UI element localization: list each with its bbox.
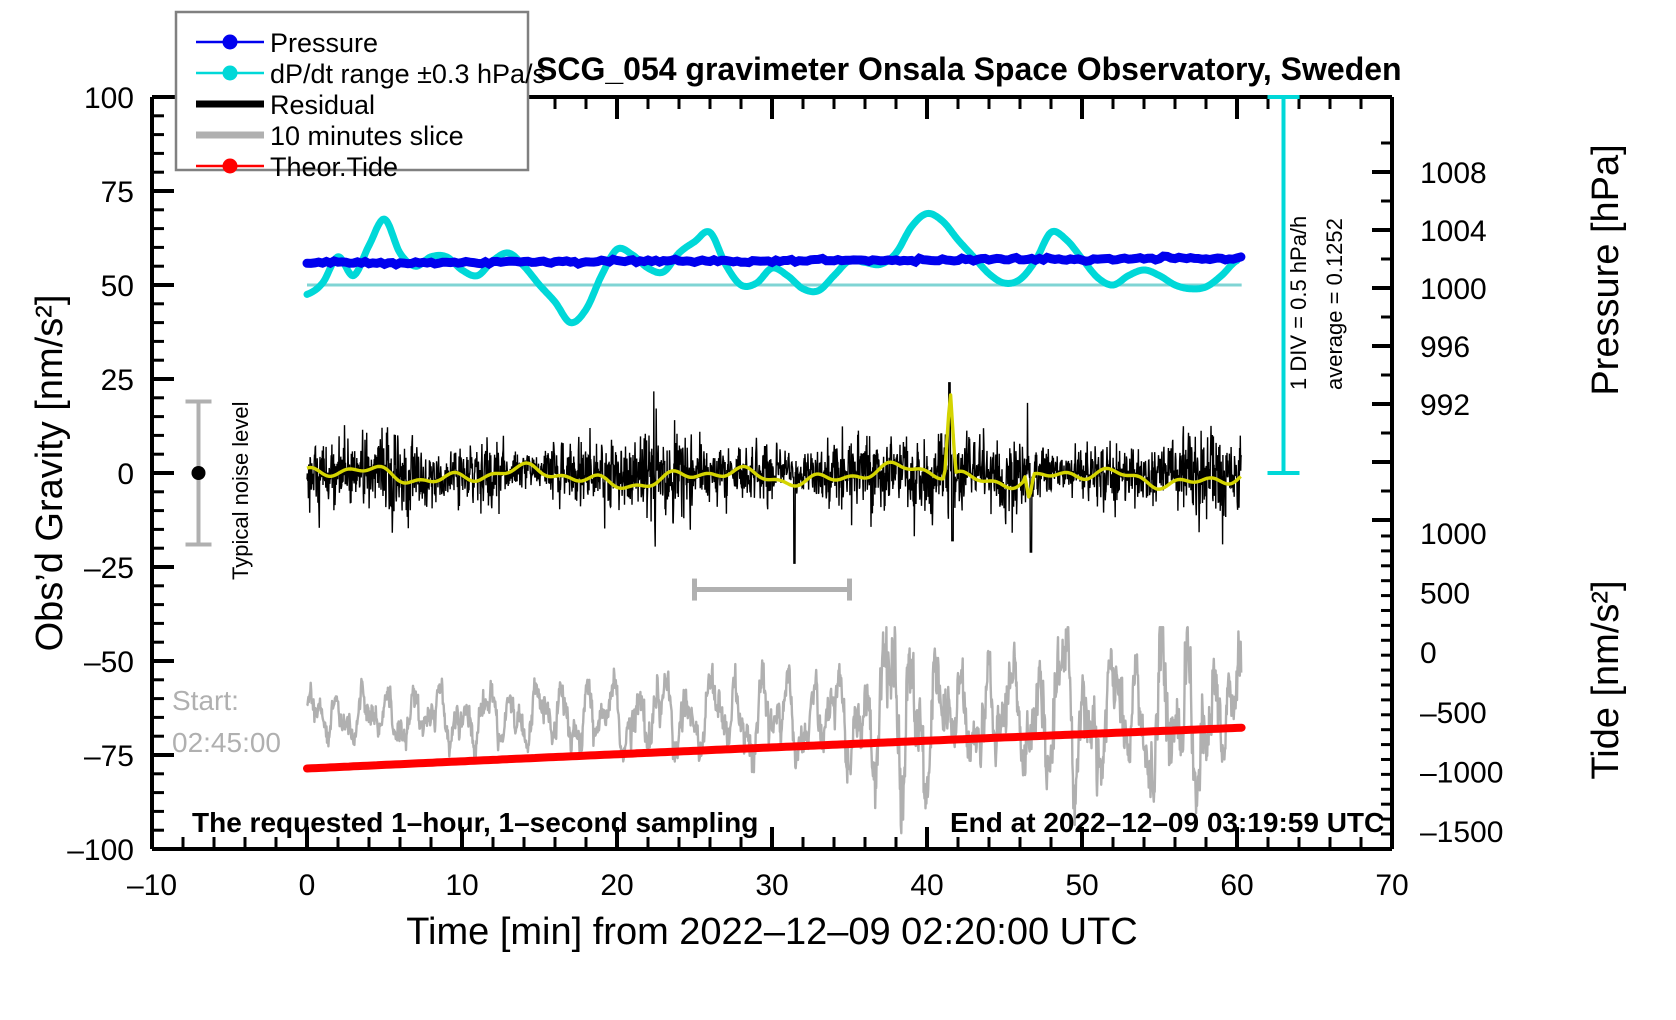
figure-root: 1007550250–25–50–75–100 –100102030405060… [0,0,1676,1020]
y-right-tide-tick-label: 0 [1420,637,1437,670]
y-left-tick-label: –50 [84,646,134,679]
y-left-tick-label: 0 [117,458,134,491]
page-title: SCG_054 gravimeter Onsala Space Observat… [536,51,1402,87]
x-tick-label: 10 [445,869,478,902]
legend-marker-dot [223,159,238,174]
plot-canvas: 1007550250–25–50–75–100 –100102030405060… [0,0,1676,1020]
start-label: Start: [172,685,239,716]
x-tick-label: 40 [910,869,943,902]
x-tick-label: –10 [127,869,177,902]
y-left-tick-label: 50 [101,270,134,303]
x-tick-label: 60 [1220,869,1253,902]
legend[interactable]: PressuredP/dt range ±0.3 hPa/sResidual10… [176,12,546,182]
start-time: 02:45:00 [172,727,281,758]
legend-marker-dot [223,35,238,50]
y-right-tide-tick-label: –1000 [1420,756,1503,789]
legend-label: 10 minutes slice [270,121,464,151]
x-tick-label: 70 [1375,869,1408,902]
legend-label: Pressure [270,28,378,58]
y-left-axis-title: Obs’d Gravity [nm/s²] [29,295,71,652]
y-right-pressure-tick-label: 1000 [1420,273,1487,306]
end-note: End at 2022–12–09 03:19:59 UTC [950,807,1384,838]
y-left-tick-label: –25 [84,552,134,585]
y-right-tide-axis-title: Tide [nm/s²] [1585,580,1627,779]
legend-marker-dot [223,66,238,81]
legend-label: Theor.Tide [270,152,398,182]
y-right-tide-tick-label: –1500 [1420,816,1503,849]
legend-label: Residual [270,90,375,120]
typical-noise-label: Typical noise level [228,401,253,580]
scalebar-div-label: 1 DIV = 0.5 hPa/h [1286,216,1311,390]
x-tick-label: 0 [299,869,316,902]
legend-label: dP/dt range ±0.3 hPa/s [270,59,546,89]
x-tick-label: 30 [755,869,788,902]
y-right-tide-tick-label: 500 [1420,578,1470,611]
x-tick-label: 20 [600,869,633,902]
sampling-note: The requested 1–hour, 1–second sampling [192,807,758,838]
y-right-tide-tick-label: –500 [1420,697,1487,730]
y-right-pressure-tick-label: 996 [1420,331,1470,364]
y-right-pressure-axis-title: Pressure [hPa] [1585,144,1627,395]
y-right-pressure-tick-label: 992 [1420,389,1470,422]
scalebar-average-label: average = 0.1252 [1322,218,1347,390]
y-left-tick-label: 100 [84,82,134,115]
y-left-tick-label: 75 [101,176,134,209]
y-left-tick-label: –75 [84,740,134,773]
x-axis-title: Time [min] from 2022–12–09 02:20:00 UTC [406,911,1138,953]
x-tick-label: 50 [1065,869,1098,902]
y-left-tick-label: –100 [67,834,134,867]
y-right-tide-tick-label: 1000 [1420,518,1487,551]
y-right-pressure-tick-label: 1008 [1420,157,1487,190]
y-right-pressure-tick-label: 1004 [1420,215,1487,248]
y-left-tick-label: 25 [101,364,134,397]
